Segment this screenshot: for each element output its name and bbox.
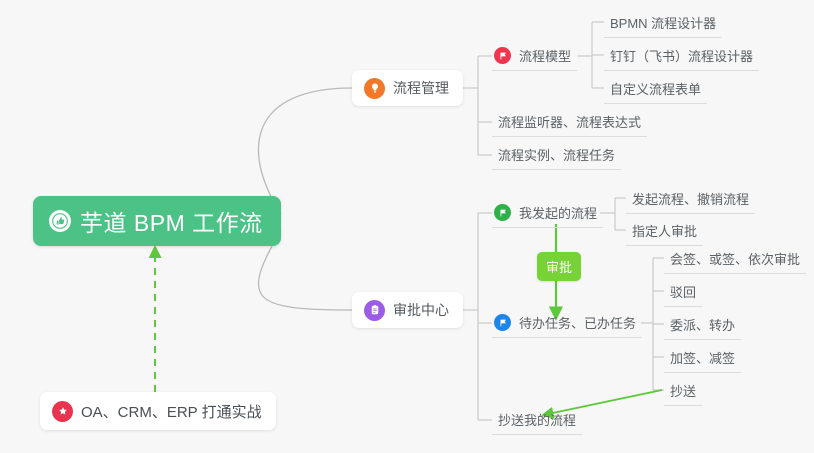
node-label: 流程模型 [519, 46, 571, 65]
node-label: 我发起的流程 [519, 203, 597, 222]
node-label: 待办任务、已办任务 [519, 313, 636, 332]
node-assignee-approval[interactable]: 指定人审批 [626, 217, 703, 246]
node-cc-to-me-processes[interactable]: 抄送我的流程 [492, 406, 582, 435]
node-add-remove-sign[interactable]: 加签、减签 [664, 344, 741, 373]
flag-icon [494, 204, 511, 221]
node-launch-cancel-process[interactable]: 发起流程、撤销流程 [626, 185, 755, 214]
node-reject[interactable]: 驳回 [664, 278, 702, 307]
node-process-model[interactable]: 流程模型 [492, 42, 577, 71]
node-cc[interactable]: 抄送 [664, 377, 702, 406]
thumbs-up-icon [49, 210, 71, 232]
branch-label: 流程管理 [393, 78, 449, 98]
branch-approval-center[interactable]: 审批中心 [352, 292, 463, 328]
node-dingtalk-designer[interactable]: 钉钉（飞书）流程设计器 [604, 42, 759, 71]
root-node[interactable]: 芋道 BPM 工作流 [33, 196, 281, 246]
node-todo-done-tasks[interactable]: 待办任务、已办任务 [492, 309, 642, 338]
node-process-listener-expression[interactable]: 流程监听器、流程表达式 [492, 108, 647, 137]
integration-practice-card[interactable]: OA、CRM、ERP 打通实战 [40, 392, 276, 430]
node-countersign[interactable]: 会签、或签、依次审批 [664, 245, 806, 274]
star-icon [52, 401, 73, 422]
branch-process-management[interactable]: 流程管理 [352, 70, 463, 106]
mindmap-canvas: 芋道 BPM 工作流 流程管理 流程模型 BPMN 流程设计器 钉钉（飞书）流程… [0, 0, 814, 453]
approval-pill[interactable]: 审批 [537, 252, 581, 281]
node-custom-form[interactable]: 自定义流程表单 [604, 75, 707, 104]
clipboard-icon [364, 300, 385, 321]
root-label: 芋道 BPM 工作流 [80, 204, 263, 238]
node-my-started-processes[interactable]: 我发起的流程 [492, 199, 603, 228]
node-process-instance-task[interactable]: 流程实例、流程任务 [492, 141, 621, 170]
flag-icon [494, 47, 511, 64]
flag-icon [494, 314, 511, 331]
branch-label: 审批中心 [393, 300, 449, 320]
integration-practice-label: OA、CRM、ERP 打通实战 [81, 401, 262, 422]
lightbulb-icon [364, 78, 385, 99]
node-delegate-transfer[interactable]: 委派、转办 [664, 311, 741, 340]
node-bpmn-designer[interactable]: BPMN 流程设计器 [604, 9, 722, 38]
